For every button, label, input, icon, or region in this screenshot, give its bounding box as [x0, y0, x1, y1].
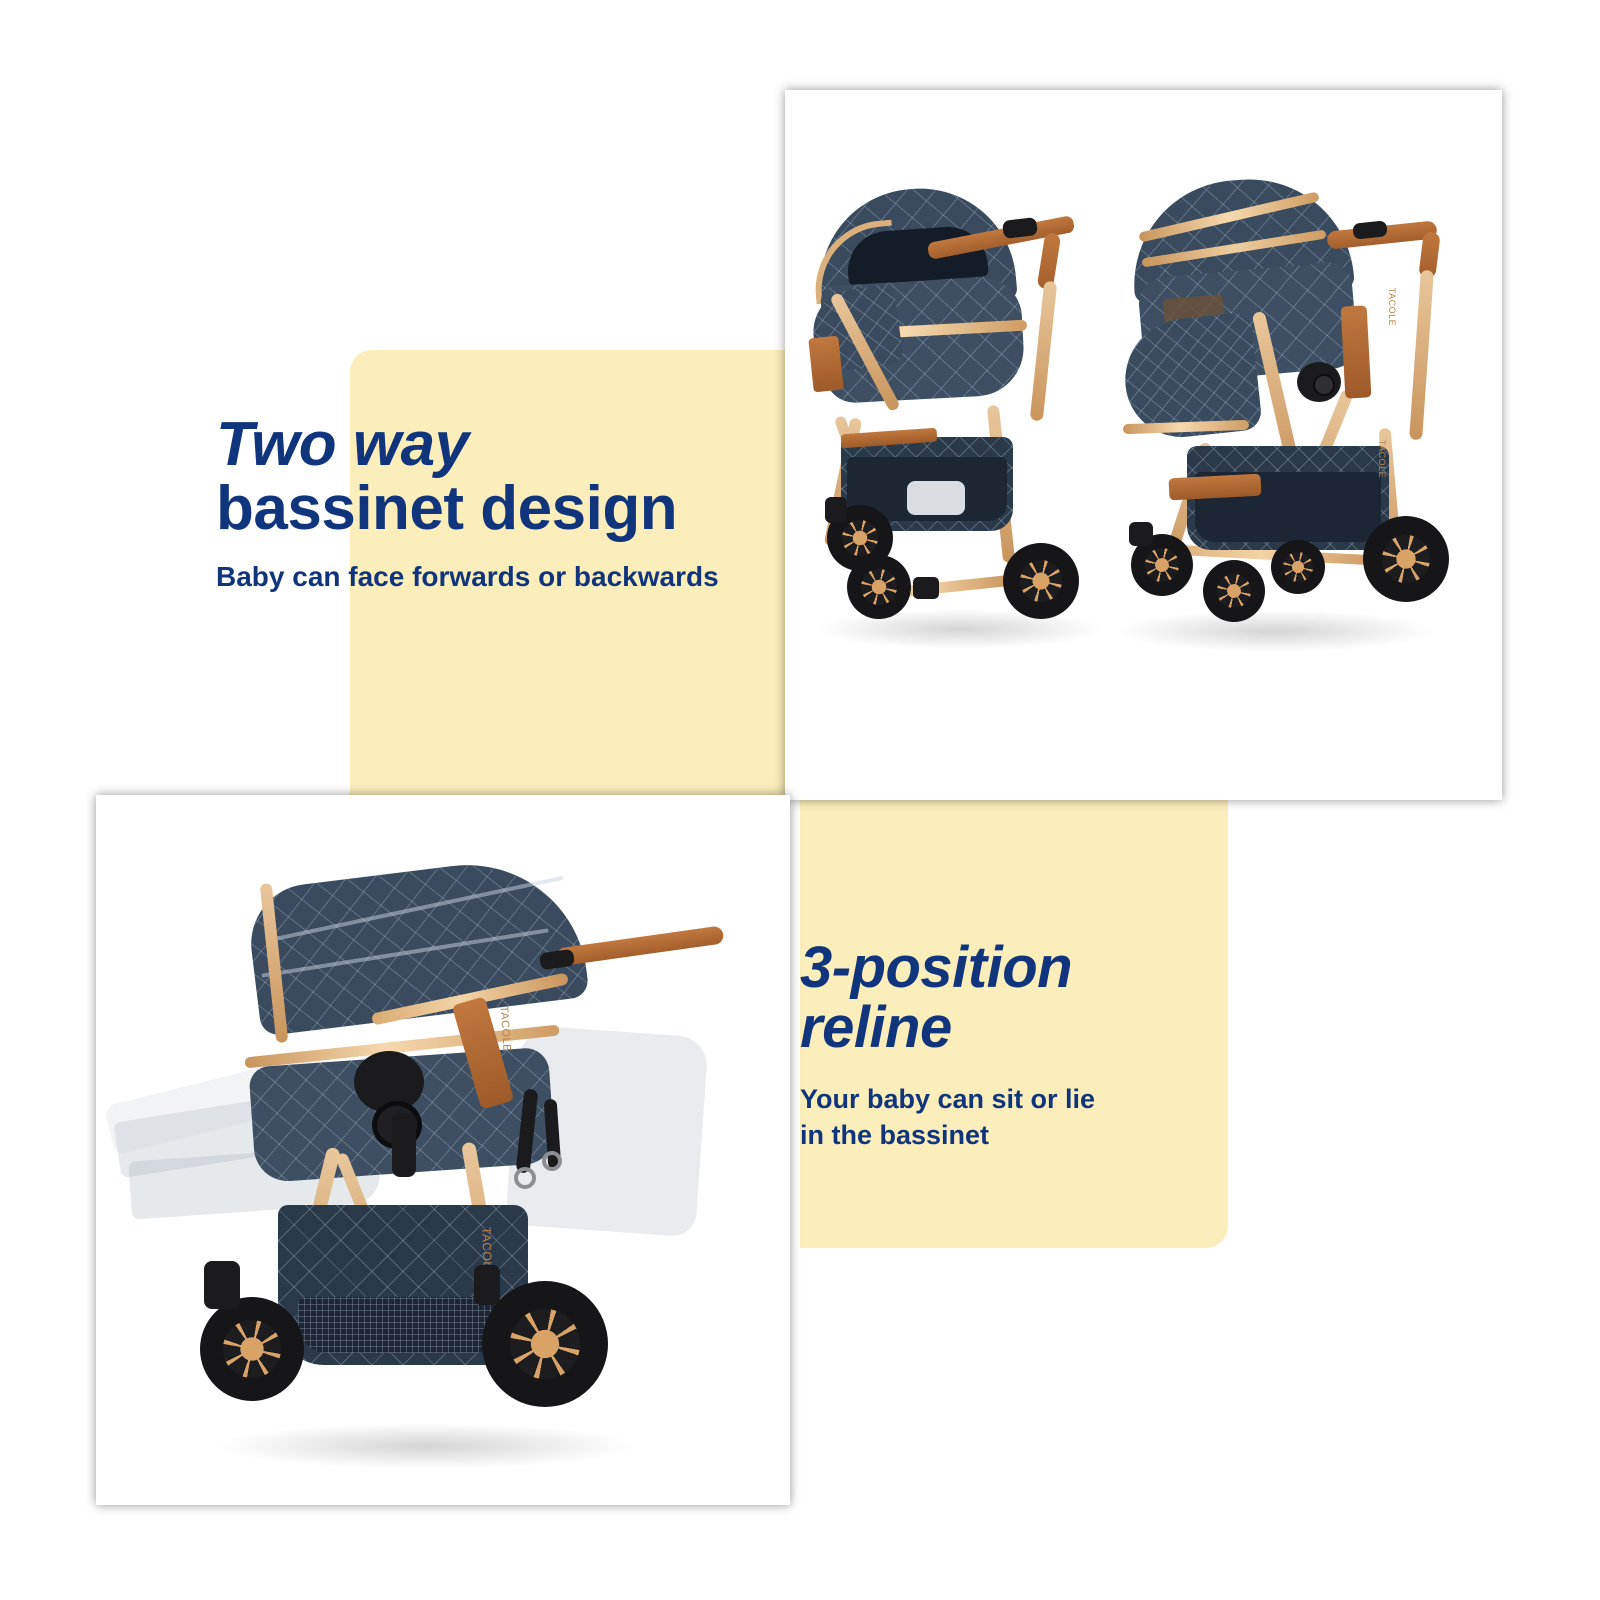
- feature-text-recline: 3-position reline Your baby can sit or l…: [800, 938, 1230, 1154]
- feature-headline-recline: 3-position reline: [800, 938, 1230, 1059]
- feature-text-two-way: Two way bassinet design Baby can face fo…: [216, 413, 816, 596]
- leather-side-bar: [1341, 305, 1372, 398]
- wheel-front: [200, 1297, 304, 1401]
- wheel-front-right: [1003, 543, 1079, 619]
- storage-basket: [1187, 446, 1389, 550]
- subtext-line-1: Baby can face forwards or backwards: [216, 561, 719, 592]
- feature-subtext-recline: Your baby can sit or lie in the bassinet: [800, 1081, 1230, 1154]
- wheel-mid: [1271, 540, 1325, 594]
- harness-ring-2: [542, 1151, 562, 1171]
- headline-line-1: Two way: [216, 413, 816, 477]
- wheel-fork-rear: [474, 1265, 500, 1305]
- headline-line-2: reline: [800, 998, 1230, 1058]
- subtext-line-2: in the bassinet: [800, 1120, 989, 1150]
- brand-logo-seat: TACOLE: [498, 1006, 513, 1053]
- headline-line-1: 3-position: [800, 938, 1230, 998]
- photo-panel-two-strollers: TACOLE TACOLE: [785, 90, 1502, 800]
- feature-headline-two-way: Two way bassinet design: [216, 413, 816, 542]
- subtext-line-1: Your baby can sit or lie: [800, 1084, 1095, 1114]
- wheel-mount-rear: [825, 497, 847, 523]
- brand-logo-basket: TACOLE: [1377, 440, 1387, 478]
- wheel-rear: [482, 1281, 608, 1407]
- infographic-canvas: TACOLE TACOLE: [0, 0, 1600, 1600]
- wheel-front-left: [847, 555, 911, 619]
- harness-ring-1: [514, 1167, 536, 1189]
- ground-shadow: [1115, 610, 1435, 652]
- ground-shadow: [815, 609, 1105, 649]
- ground-shadow: [216, 1423, 636, 1469]
- feature-subtext-two-way: Baby can face forwards or backwards: [216, 558, 816, 596]
- leather-side-patch: [808, 336, 843, 393]
- wheel-rear-large: [1363, 516, 1449, 602]
- photo-panel-recline-positions: TACOLE TACOLE: [96, 795, 790, 1505]
- pivot-dial: [1313, 374, 1335, 396]
- brake-pedal: [913, 577, 939, 599]
- wheel-front-right: [1203, 560, 1265, 622]
- stroller-forward-facing-seat: TACOLE TACOLE: [1095, 178, 1465, 658]
- handlebar-grip: [556, 925, 725, 966]
- headline-line-2: bassinet design: [216, 477, 816, 541]
- wheel-mount-front: [1129, 522, 1153, 546]
- stroller-side-profile: TACOLE TACOLE: [156, 845, 736, 1475]
- handle-post: [1030, 281, 1058, 422]
- stroller-rear-facing-bassinet: [795, 185, 1115, 655]
- brand-logo-frame: TACOLE: [1387, 288, 1397, 326]
- handle-post: [1409, 270, 1434, 440]
- wheel-mount-front: [204, 1261, 240, 1309]
- basket-contents: [907, 481, 965, 515]
- pivot-arm: [392, 1113, 416, 1177]
- basket-mesh: [298, 1297, 498, 1353]
